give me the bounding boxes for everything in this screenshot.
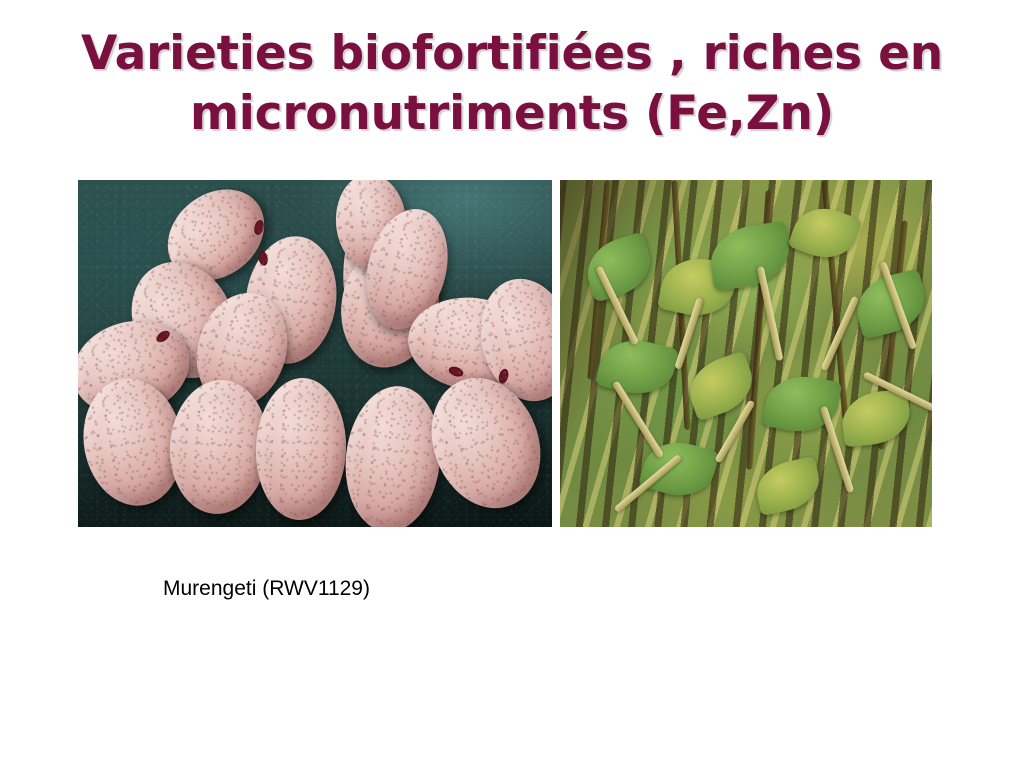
bean-hilum bbox=[257, 250, 269, 267]
bean-hilum bbox=[154, 328, 171, 344]
image-caption: Murengeti (RWV1129) bbox=[163, 577, 370, 601]
bean-leaf bbox=[839, 389, 912, 448]
bean-hilum bbox=[497, 368, 510, 385]
bean-seeds-photo bbox=[78, 180, 552, 527]
bean-leaf bbox=[787, 199, 862, 267]
bean-hilum bbox=[253, 219, 265, 236]
bean-hilum bbox=[447, 365, 464, 378]
bean-seed bbox=[339, 381, 448, 527]
bean-leaf bbox=[752, 456, 825, 516]
bean-seed bbox=[254, 376, 349, 521]
bean-field-photo bbox=[560, 180, 932, 527]
slide-title: Varieties biofortifiées , riches en micr… bbox=[72, 24, 952, 144]
bean-leaf bbox=[579, 231, 658, 303]
bean-leaf bbox=[706, 221, 794, 292]
presentation-slide: Varieties biofortifiées , riches en micr… bbox=[0, 0, 1024, 768]
